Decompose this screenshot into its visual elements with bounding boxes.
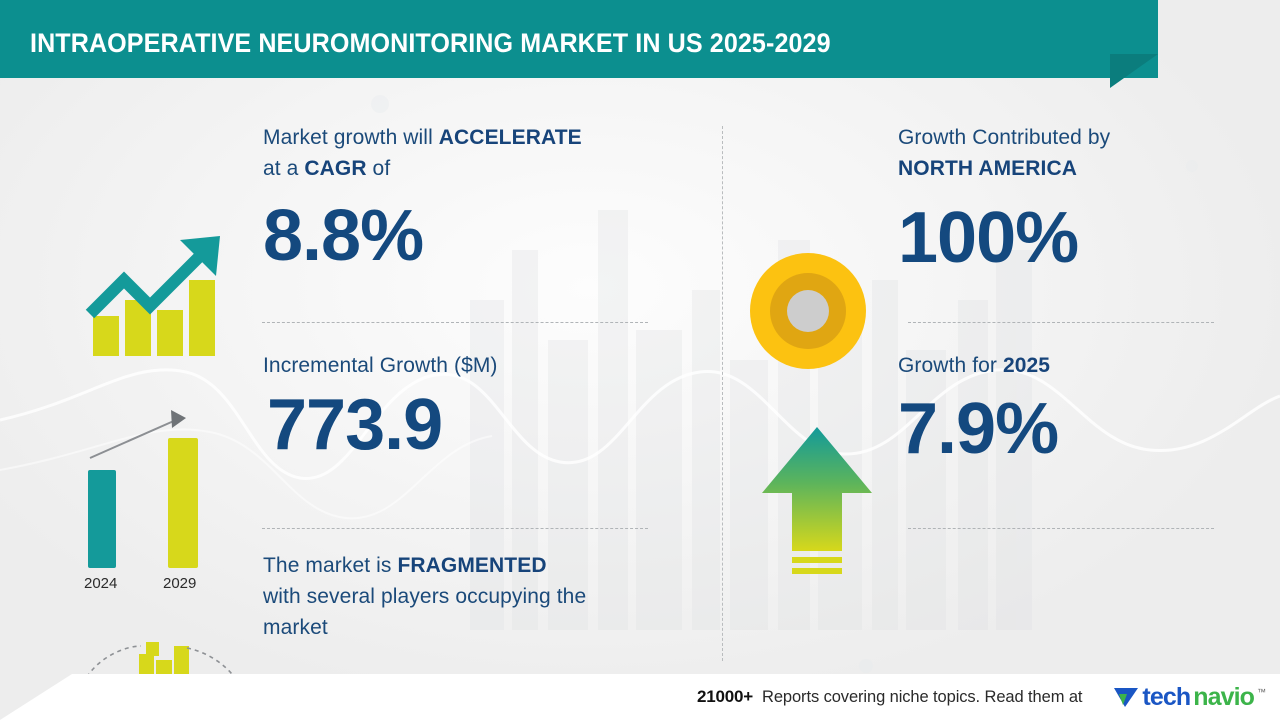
incremental-growth-label: Incremental Growth ($M) xyxy=(263,350,663,381)
kpi-cagr: Market growth will ACCELERATE at a CAGR … xyxy=(263,122,663,272)
growth-chart-arrow-icon xyxy=(68,218,238,383)
cagr-line2-strong: CAGR xyxy=(304,157,366,180)
divider-right-1 xyxy=(908,322,1214,323)
logo-trademark: ™ xyxy=(1257,687,1266,697)
bar-label-2024: 2024 xyxy=(84,575,117,592)
column-divider xyxy=(722,126,723,661)
logo-word-navio: navio xyxy=(1193,685,1254,710)
fragmented-label: The market is FRAGMENTED with several pl… xyxy=(263,550,683,643)
footer-text: Reports covering niche topics. Read them… xyxy=(762,688,1082,707)
divider-left-1 xyxy=(262,322,648,323)
bar-label-2029: 2029 xyxy=(163,575,196,592)
yearly-label-strong: 2025 xyxy=(1003,354,1050,377)
cagr-label: Market growth will ACCELERATE at a CAGR … xyxy=(263,122,663,184)
footer-content: 21000+ Reports covering niche topics. Re… xyxy=(697,674,1272,720)
cagr-line2-suffix: of xyxy=(367,157,391,180)
fragmented-line1-strong: FRAGMENTED xyxy=(397,554,546,577)
technavio-logo[interactable]: technavio ™ xyxy=(1113,685,1266,710)
divider-right-2 xyxy=(908,528,1214,529)
cagr-line1-strong: ACCELERATE xyxy=(439,126,582,149)
up-arrow-gradient-icon xyxy=(760,423,875,588)
yearly-growth-value: 7.9% xyxy=(898,393,1228,465)
region-value: 100% xyxy=(898,202,1228,274)
main-content: Market growth will ACCELERATE at a CAGR … xyxy=(0,78,1280,675)
cagr-line2-prefix: at a xyxy=(263,157,304,180)
cagr-value: 8.8% xyxy=(263,200,663,272)
divider-left-2 xyxy=(262,528,648,529)
kpi-north-america: Growth Contributed by NORTH AMERICA 100% xyxy=(898,122,1228,274)
logo-word-tech: tech xyxy=(1142,685,1190,710)
technavio-arrow-mark-icon xyxy=(1113,685,1139,710)
incremental-growth-value: 773.9 xyxy=(267,389,663,461)
footer-bar: 21000+ Reports covering niche topics. Re… xyxy=(0,674,1280,720)
reports-count: 21000+ xyxy=(697,687,753,707)
region-label: Growth Contributed by NORTH AMERICA xyxy=(898,122,1228,184)
fragmented-line1-prefix: The market is xyxy=(263,554,397,577)
cagr-line1-prefix: Market growth will xyxy=(263,126,439,149)
fragmented-line2: with several players occupying the xyxy=(263,585,586,608)
page-title: INTRAOPERATIVE NEUROMONITORING MARKET IN… xyxy=(30,28,831,59)
fragmented-line3: market xyxy=(263,616,328,639)
infographic-page: INTRAOPERATIVE NEUROMONITORING MARKET IN… xyxy=(0,0,1280,720)
concentric-donut-icon xyxy=(748,252,868,370)
yearly-label-prefix: Growth for xyxy=(898,354,1003,377)
two-bar-comparison-icon xyxy=(68,408,228,598)
region-line1: Growth Contributed by xyxy=(898,126,1110,149)
kpi-growth-2025: Growth for 2025 7.9% xyxy=(898,350,1228,465)
region-line2-strong: NORTH AMERICA xyxy=(898,157,1077,180)
kpi-incremental-growth: Incremental Growth ($M) 773.9 xyxy=(263,350,663,461)
kpi-fragmented: The market is FRAGMENTED with several pl… xyxy=(263,550,683,643)
yearly-growth-label: Growth for 2025 xyxy=(898,350,1228,381)
